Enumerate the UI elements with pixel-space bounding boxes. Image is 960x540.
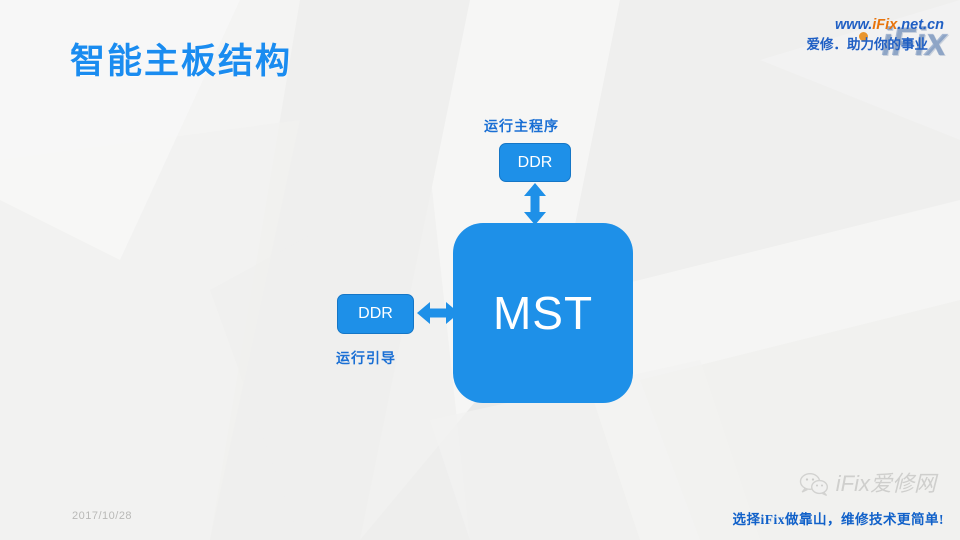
node-ddr-left-label: DDR bbox=[358, 305, 393, 323]
node-ddr-left[interactable]: DDR bbox=[337, 294, 414, 334]
date-stamp: 2017/10/28 bbox=[72, 510, 132, 522]
slide-canvas: 智能主板结构 iFix www.iFix.net.cn 爱修．助力你的事业 运行… bbox=[0, 0, 960, 540]
block-diagram: 运行主程序 DDR MST DDR 运行引导 bbox=[0, 0, 960, 540]
node-mst-label: MST bbox=[493, 286, 593, 340]
wechat-account-name: iFix爱修网 bbox=[836, 473, 936, 495]
edge-label-run-boot: 运行引导 bbox=[336, 348, 396, 368]
brand-tagline: 选择iFix做靠山，维修技术更简单! bbox=[733, 508, 945, 528]
node-ddr-top[interactable]: DDR bbox=[499, 143, 571, 182]
edge-label-run-main: 运行主程序 bbox=[484, 116, 559, 136]
wechat-icon bbox=[799, 472, 829, 496]
node-ddr-top-label: DDR bbox=[518, 154, 553, 172]
double-arrow-vertical-icon bbox=[522, 183, 548, 225]
double-arrow-horizontal-icon bbox=[417, 298, 459, 328]
wechat-account: iFix爱修网 bbox=[799, 472, 936, 496]
brand-footer: iFix爱修网 选择iFix做靠山，维修技术更简单! bbox=[660, 468, 950, 534]
node-mst[interactable]: MST bbox=[453, 223, 633, 403]
